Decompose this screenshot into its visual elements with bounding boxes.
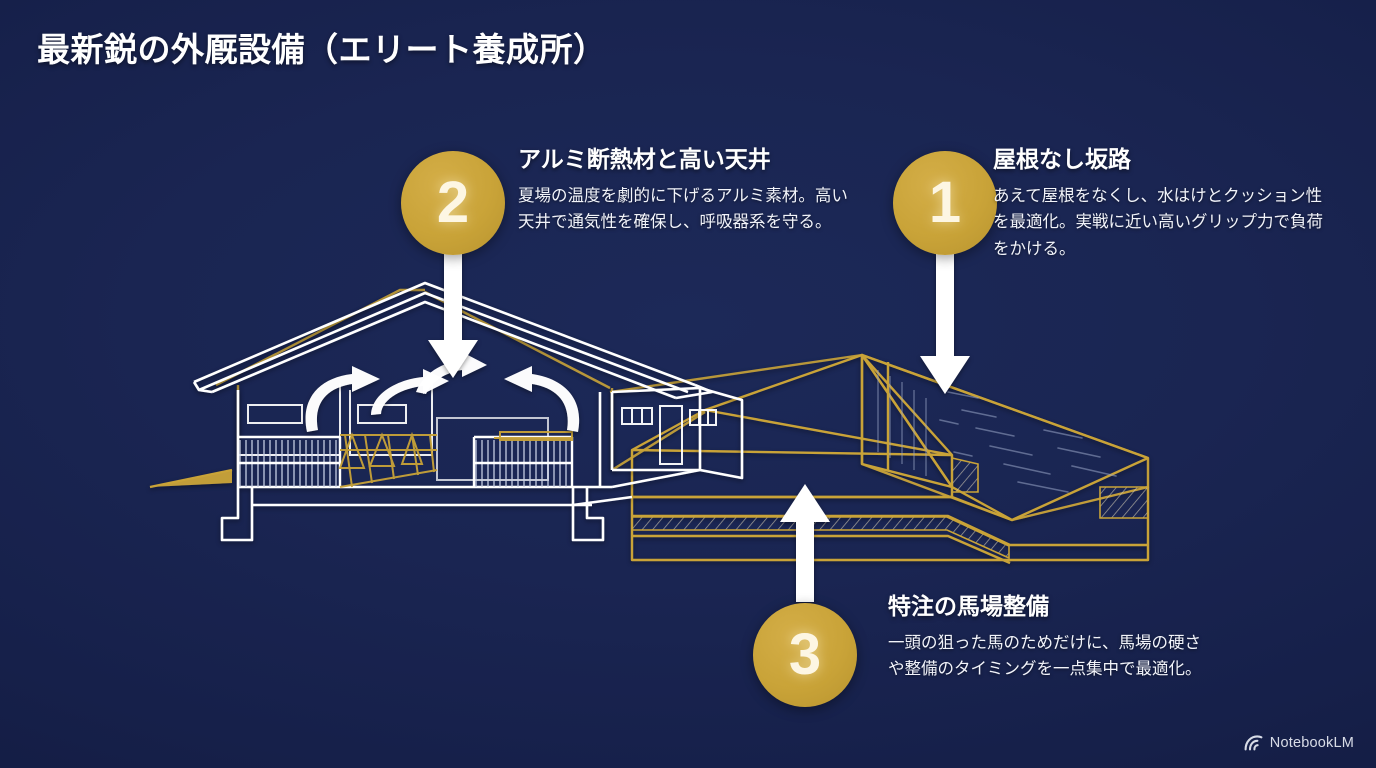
interior-gold-fencing [340,432,572,487]
callout-block-3: 特注の馬場整備 一頭の狙った馬のためだけに、馬場の硬さや整備のタイミングを一点集… [888,592,1208,683]
pointer-arrow-3 [780,484,830,602]
callout-2-body: 夏場の温度を劇的に下げるアルミ素材。高い天井で通気性を確保し、呼吸器系を守る。 [518,183,848,236]
badge-number-2-label: 2 [437,174,469,232]
notebooklm-arc-icon [1244,735,1263,751]
callout-3-title: 特注の馬場整備 [888,592,1208,621]
badge-number-3[interactable]: 3 [753,603,857,707]
badge-number-2[interactable]: 2 [401,151,505,255]
pointer-arrow-1 [920,252,970,394]
notebooklm-watermark: NotebookLM [1244,735,1354,751]
badge-number-1-label: 1 [929,174,961,232]
airflow-arrows-group [306,352,580,432]
badge-number-1[interactable]: 1 [893,151,997,255]
callout-block-2: アルミ断熱材と高い天井 夏場の温度を劇的に下げるアルミ素材。高い天井で通気性を確… [518,145,848,236]
callout-3-body: 一頭の狙った馬のためだけに、馬場の硬さや整備のタイミングを一点集中で最適化。 [888,630,1208,683]
callout-2-title: アルミ断熱材と高い天井 [518,145,848,174]
slope-wall-ribs [878,370,926,476]
callout-1-title: 屋根なし坂路 [993,145,1323,174]
notebooklm-watermark-label: NotebookLM [1270,735,1354,751]
callout-1-body: あえて屋根をなくし、水はけとクッション性を最適化。実戦に近い高いグリップ力で負荷… [993,183,1323,263]
badge-number-3-label: 3 [789,626,821,684]
callout-block-1: 屋根なし坂路 あえて屋根をなくし、水はけとクッション性を最適化。実戦に近い高いグ… [993,145,1323,263]
slide-canvas: 最新鋭の外厩設備（エリート養成所） [0,0,1376,768]
